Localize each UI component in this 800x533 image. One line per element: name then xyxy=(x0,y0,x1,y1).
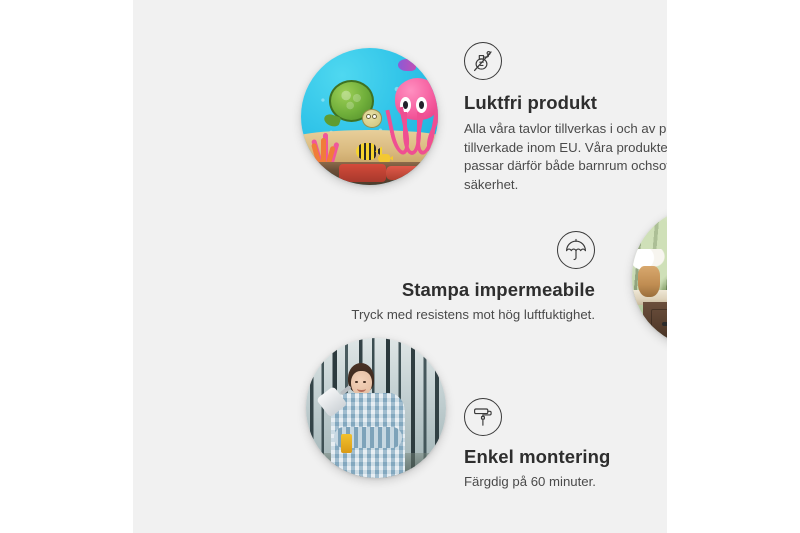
umbrella-icon xyxy=(557,231,595,269)
sea-turtle xyxy=(324,80,379,129)
feature-title: Stampa impermeabile xyxy=(345,279,595,301)
feature-title: Luktfri produkt xyxy=(464,92,667,114)
feature-easy-install: Enkel montering Färgdig på 60 minuter. xyxy=(464,398,667,492)
feature-odorless: Luktfri produkt Alla våra tavlor tillver… xyxy=(464,42,667,195)
promo-page: Luktfri produkt Alla våra tavlor tillver… xyxy=(0,0,800,533)
feature-body: Tryck med resistens mot hög luftfuktighe… xyxy=(345,306,595,325)
feature-body: Alla våra tavlor tillverkas i och av pro… xyxy=(464,120,667,195)
purple-fish xyxy=(398,59,416,71)
striped-fish xyxy=(356,143,377,161)
content-panel: Luktfri produkt Alla våra tavlor tillver… xyxy=(133,0,667,533)
paint-roller-icon xyxy=(464,398,502,436)
decorative-vase xyxy=(638,266,660,297)
woman-figure xyxy=(326,363,413,478)
measuring-tape xyxy=(341,434,351,452)
woman-with-paint-roller-forest-wallpaper-image xyxy=(306,338,446,478)
no-spray-bottle-icon xyxy=(464,42,502,80)
woman-smile xyxy=(357,385,366,392)
feature-waterproof: Stampa impermeabile Tryck med resistens … xyxy=(345,231,595,325)
underwater-cartoon-scene-image xyxy=(301,48,438,185)
ocean-shipwreck xyxy=(301,162,438,185)
feature-title: Enkel montering xyxy=(464,446,667,468)
drawer-handle xyxy=(662,322,667,326)
wooden-vanity-cabinet xyxy=(643,302,667,347)
turtle-head xyxy=(362,109,383,128)
roller-rod xyxy=(340,386,352,396)
pink-octopus xyxy=(383,78,438,155)
bathroom-tropical-wallpaper-image xyxy=(632,207,667,347)
feature-body: Färgdig på 60 minuter. xyxy=(464,473,667,492)
